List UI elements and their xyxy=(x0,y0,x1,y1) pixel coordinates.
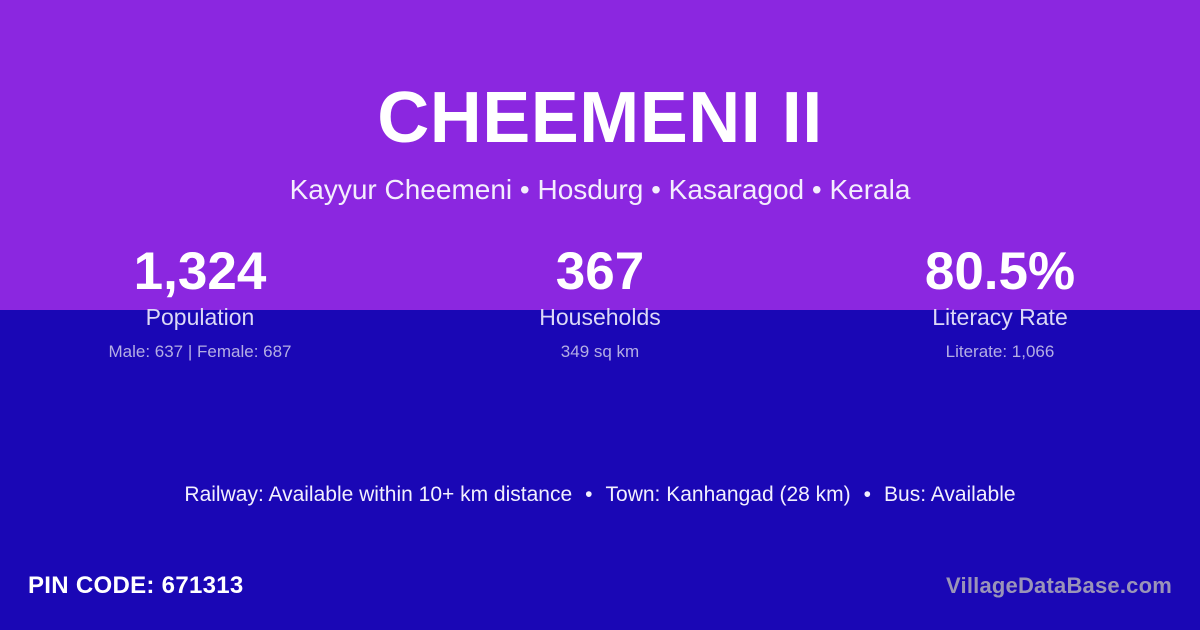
stat-value: 80.5% xyxy=(925,244,1075,300)
breadcrumb: Kayyur Cheemeni • Hosdurg • Kasaragod • … xyxy=(290,176,911,204)
infrastructure-row: Railway: Available within 10+ km distanc… xyxy=(0,484,1200,505)
stat-label: Population xyxy=(146,306,255,329)
village-info-card: CHEEMENI II Kayyur Cheemeni • Hosdurg • … xyxy=(0,0,1200,630)
statistics-row: 1,324 Population Male: 637 | Female: 687… xyxy=(0,244,1200,360)
bullet-separator-icon: • xyxy=(572,484,605,505)
page-title: CHEEMENI II xyxy=(377,82,823,154)
infrastructure-town: Town: Kanhangad (28 km) xyxy=(606,484,851,505)
stat-sublabel: Literate: 1,066 xyxy=(946,343,1055,360)
stat-value: 367 xyxy=(556,244,644,300)
site-brand: VillageDataBase.com xyxy=(946,575,1172,597)
infrastructure-bus: Bus: Available xyxy=(884,484,1016,505)
stat-sublabel: Male: 637 | Female: 687 xyxy=(108,343,291,360)
pin-code: PIN CODE: 671313 xyxy=(28,574,244,598)
stat-value: 1,324 xyxy=(134,244,267,300)
card-header: CHEEMENI II Kayyur Cheemeni • Hosdurg • … xyxy=(0,0,1200,232)
stat-households: 367 Households 349 sq km xyxy=(400,244,800,360)
stat-sublabel: 349 sq km xyxy=(561,343,639,360)
stat-population: 1,324 Population Male: 637 | Female: 687 xyxy=(0,244,400,360)
bullet-separator-icon: • xyxy=(851,484,884,505)
stat-label: Literacy Rate xyxy=(932,306,1068,329)
infrastructure-railway: Railway: Available within 10+ km distanc… xyxy=(184,484,572,505)
stat-label: Households xyxy=(539,306,660,329)
card-footer: PIN CODE: 671313 VillageDataBase.com xyxy=(0,560,1200,630)
stat-literacy-rate: 80.5% Literacy Rate Literate: 1,066 xyxy=(800,244,1200,360)
